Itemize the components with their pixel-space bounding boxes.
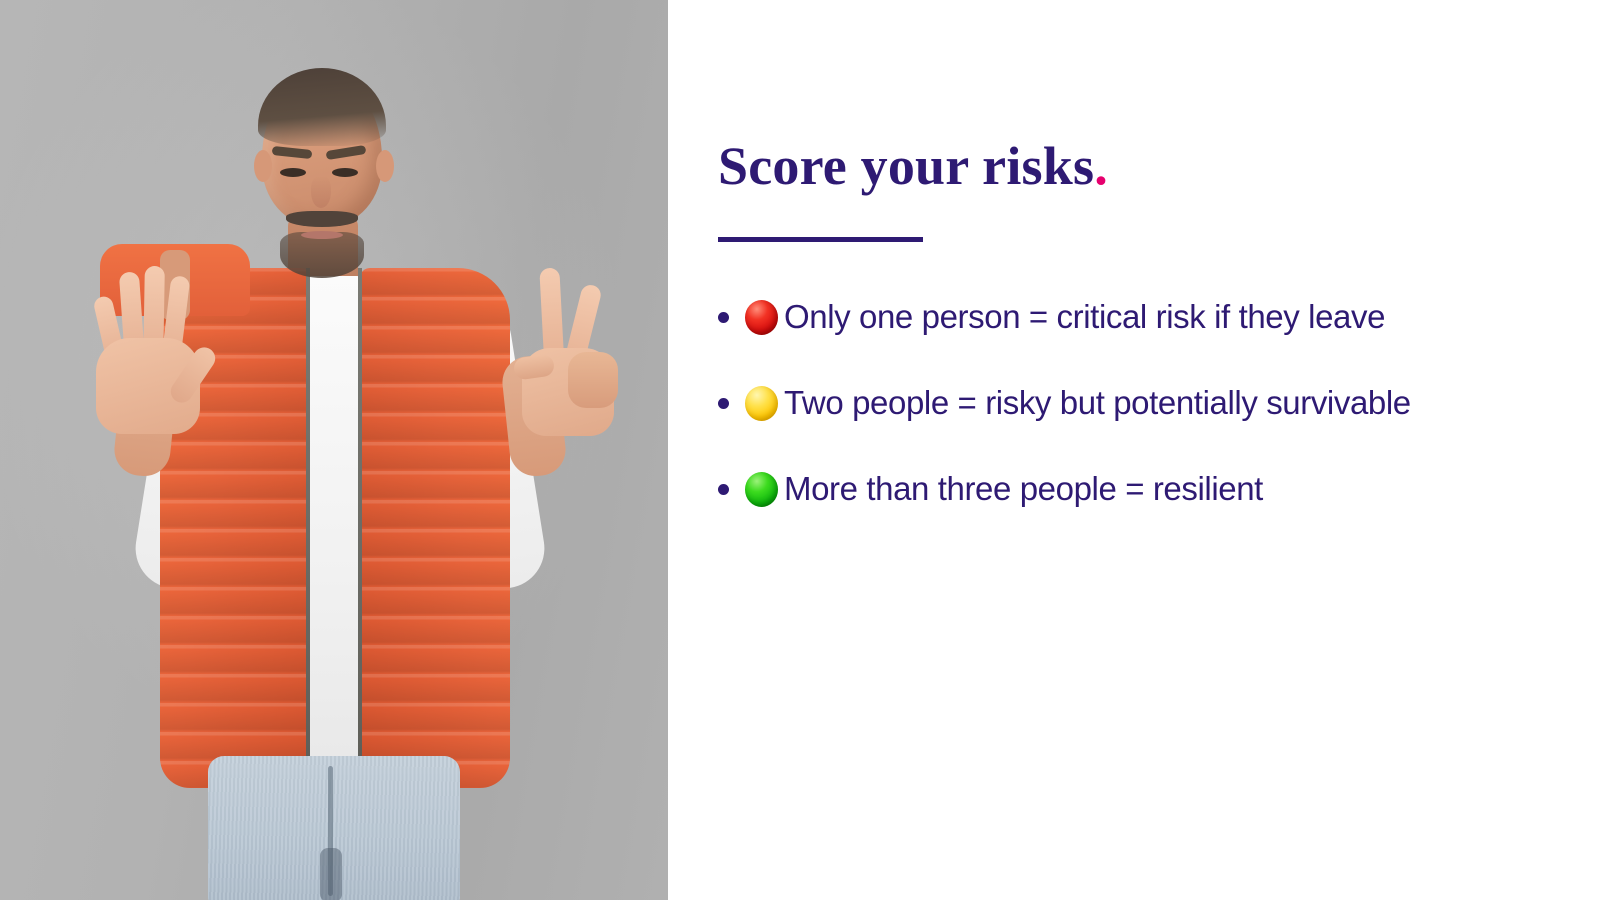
list-item: More than three people = resilient	[718, 446, 1588, 532]
hair	[258, 68, 386, 146]
knuckles	[568, 352, 618, 408]
bullet-dot-icon	[718, 312, 729, 323]
red-circle-icon	[745, 300, 778, 335]
list-item-label: Two people = risky but potentially survi…	[784, 385, 1411, 421]
list-item: Two people = risky but potentially survi…	[718, 360, 1588, 446]
yellow-circle-icon	[745, 386, 778, 421]
list-item: Only one person = critical risk if they …	[718, 274, 1588, 360]
orange-puffer-vest	[160, 268, 510, 788]
photo-panel	[0, 0, 668, 900]
bullet-dot-icon	[718, 398, 729, 409]
page-title-text: Score your risks	[718, 136, 1094, 196]
ear-right	[376, 150, 394, 182]
person-figure	[0, 0, 668, 900]
hand-open-palm-five-fingers	[86, 252, 206, 432]
mouth	[301, 231, 343, 239]
page-title: Score your risks.	[718, 138, 1108, 195]
ear-left	[254, 150, 272, 182]
hand-two-fingers	[512, 256, 624, 432]
vest-right-panel	[360, 268, 510, 788]
eye-right	[332, 168, 358, 177]
list-item-label: More than three people = resilient	[784, 471, 1263, 507]
eye-left	[280, 168, 306, 177]
nose	[311, 176, 331, 208]
page-title-period: .	[1094, 136, 1108, 196]
bullet-list: Only one person = critical risk if they …	[718, 274, 1588, 532]
jeans-seam	[320, 848, 342, 900]
bullet-dot-icon	[718, 484, 729, 495]
content-panel: Score your risks. Only one person = crit…	[668, 0, 1600, 900]
green-circle-icon	[745, 472, 778, 507]
vest-zipper-right	[358, 268, 362, 788]
blue-jeans	[208, 756, 460, 900]
slide: Score your risks. Only one person = crit…	[0, 0, 1600, 900]
vest-zipper-left	[306, 268, 310, 788]
title-underline-rule	[718, 237, 923, 242]
list-item-label: Only one person = critical risk if they …	[784, 299, 1385, 335]
moustache	[286, 211, 358, 227]
